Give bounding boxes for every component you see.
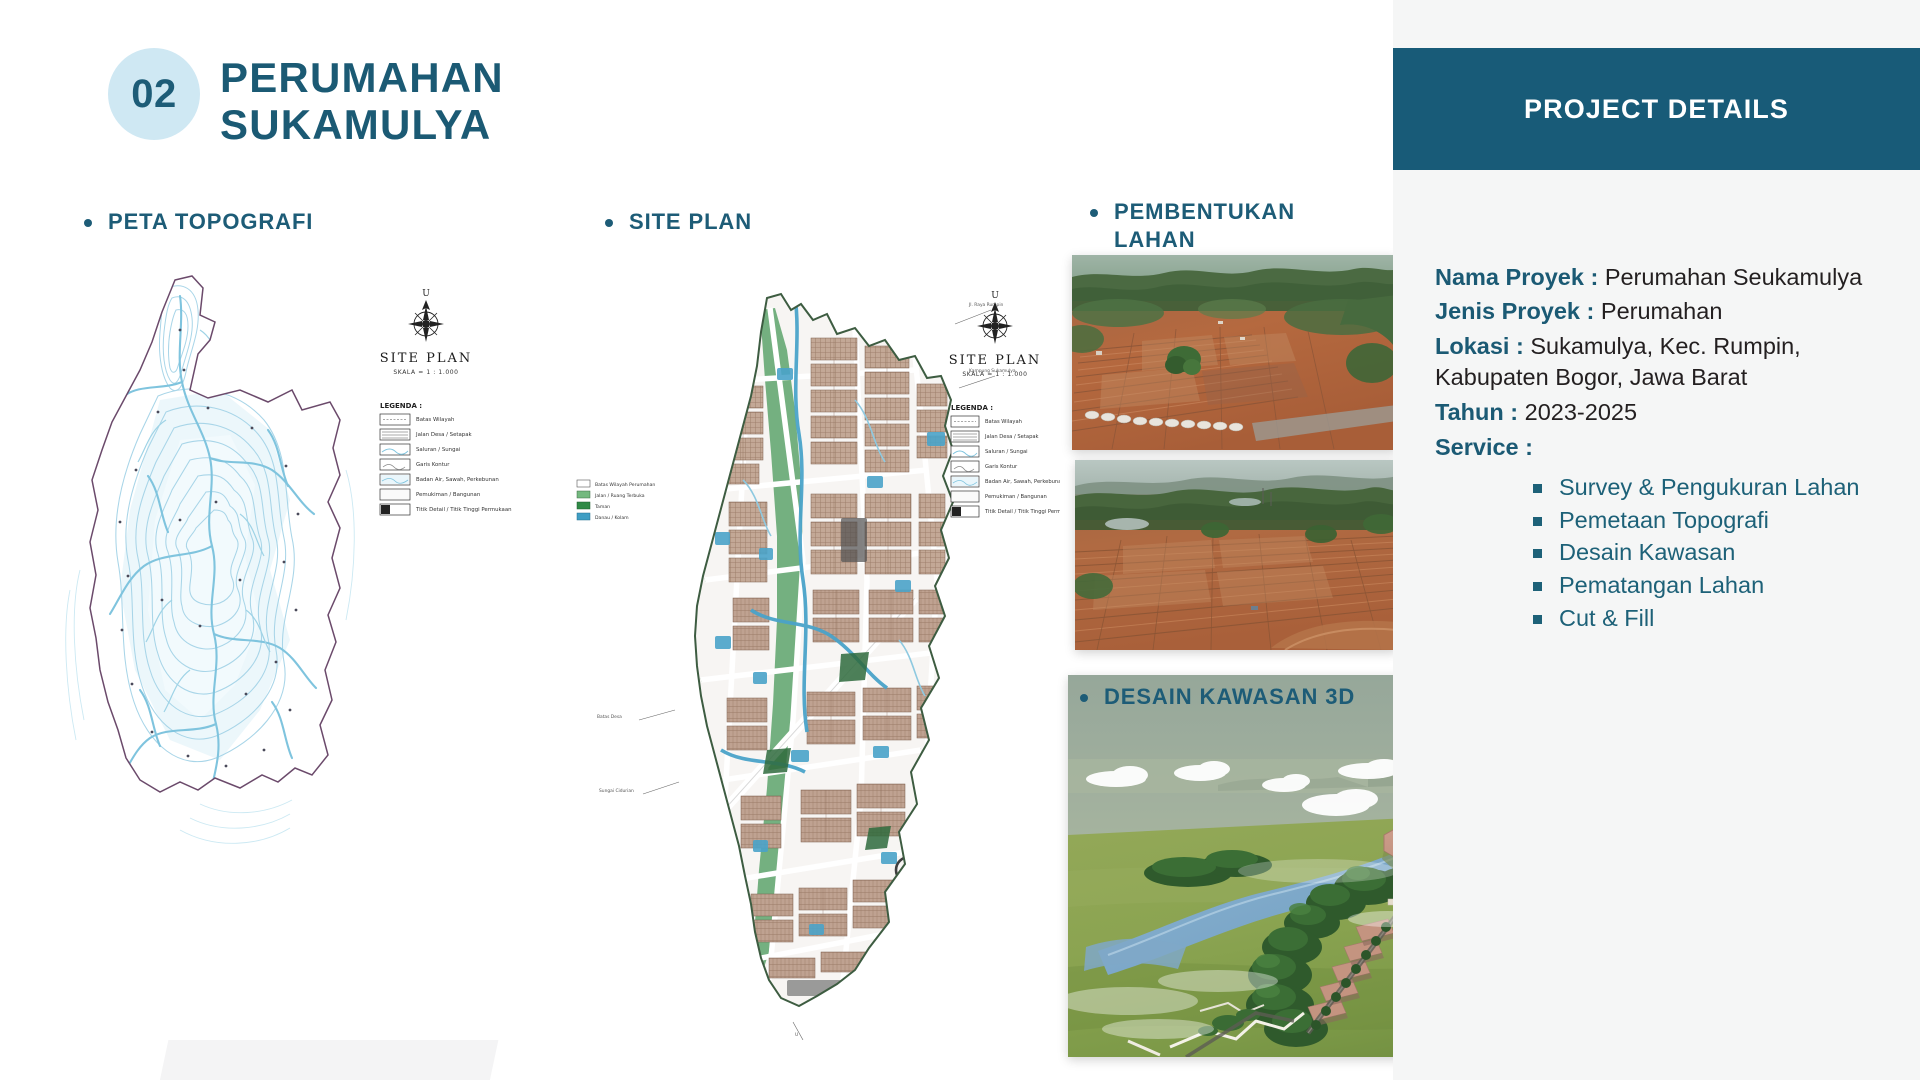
svg-text:Taman: Taman: [594, 504, 610, 510]
section-heading-peta-topografi: PETA TOPOGRAFI: [84, 208, 313, 236]
bullet-dot-icon: [605, 219, 613, 227]
detail-row-nama-proyek: Nama Proyek : Perumahan Seukamulya: [1435, 262, 1902, 293]
slide-number: 02: [131, 72, 177, 117]
page-title-line-1: PERUMAHAN: [220, 54, 504, 101]
slide-canvas: 02 PERUMAHAN SUKAMULYA PETA TOPOGRAFI SI…: [0, 0, 1920, 1080]
page-title-line-2: SUKAMULYA: [220, 101, 504, 148]
slide-header: 02 PERUMAHAN SUKAMULYA: [108, 48, 504, 148]
svg-text:Garis Kontur: Garis Kontur: [416, 462, 450, 468]
svg-text:Jalan Desa / Setapak: Jalan Desa / Setapak: [415, 432, 473, 438]
svg-text:SKALA = 1 : 1.000: SKALA = 1 : 1.000: [962, 371, 1027, 378]
detail-label: Nama Proyek :: [1435, 264, 1598, 290]
section-heading-pembentukan-lahan: PEMBENTUKANLAHAN: [1090, 198, 1320, 253]
detail-value: Perumahan Seukamulya: [1605, 264, 1862, 290]
pembentukan-lahan-photo-1: [1072, 255, 1397, 450]
list-item: Cut & Fill: [1533, 603, 1902, 634]
slide-number-badge: 02: [108, 48, 200, 140]
svg-text:SKALA = 1 : 1.000: SKALA = 1 : 1.000: [393, 369, 458, 376]
svg-text:Batas Wilayah: Batas Wilayah: [985, 419, 1022, 425]
svg-text:Titik Detail / Titik Tinggi Pe: Titik Detail / Titik Tinggi Permukaan: [984, 509, 1060, 515]
page-title: PERUMAHAN SUKAMULYA: [220, 54, 504, 148]
svg-text:U: U: [795, 1032, 798, 1038]
peta-topografi-image: U SITE PLAN SKALA = 1 : 1.000 LEGENDA :: [40, 270, 540, 1040]
detail-value-continuation: Kabupaten Bogor, Jawa Barat: [1435, 362, 1902, 393]
list-item: Survey & Pengukuran Lahan: [1533, 472, 1902, 503]
svg-text:Sungai Cidurian: Sungai Cidurian: [599, 788, 634, 794]
site-plan-image: Batas Wilayah Perumahan Jalan / Ruang Te…: [555, 280, 1060, 1040]
section-label: SITE PLAN: [629, 208, 752, 236]
svg-text:Batas Wilayah Perumahan: Batas Wilayah Perumahan: [595, 482, 655, 488]
section-label: PETA TOPOGRAFI: [108, 208, 313, 236]
list-item: Pemetaan Topografi: [1533, 505, 1902, 536]
svg-text:Badan Air, Sawah, Perkebunan: Badan Air, Sawah, Perkebunan: [985, 479, 1060, 485]
section-heading-desain-kawasan-3d: DESAIN KAWASAN 3D: [1080, 683, 1355, 711]
svg-text:Pemukiman / Bangunan: Pemukiman / Bangunan: [985, 494, 1047, 500]
detail-row-tahun: Tahun : 2023-2025: [1435, 397, 1902, 428]
section-label: PEMBENTUKANLAHAN: [1114, 198, 1295, 253]
svg-text:U: U: [991, 291, 999, 301]
svg-text:SITE PLAN: SITE PLAN: [949, 353, 1041, 368]
pembentukan-lahan-photo-2: [1075, 460, 1397, 650]
service-label: Service :: [1435, 432, 1902, 463]
detail-label: Jenis Proyek :: [1435, 298, 1594, 324]
section-heading-site-plan: SITE PLAN: [605, 208, 752, 236]
list-item: Desain Kawasan: [1533, 537, 1902, 568]
service-list: Survey & Pengukuran Lahan Pemetaan Topog…: [1533, 472, 1902, 634]
section-label: DESAIN KAWASAN 3D: [1104, 683, 1355, 711]
svg-text:Jalan Desa / Setapak: Jalan Desa / Setapak: [984, 434, 1039, 440]
svg-text:Pemukiman / Bangunan: Pemukiman / Bangunan: [416, 492, 480, 498]
project-details-panel: PROJECT DETAILS Nama Proyek : Perumahan …: [1393, 0, 1920, 1080]
svg-text:Jalan / Ruang Terbuka: Jalan / Ruang Terbuka: [594, 493, 645, 499]
svg-text:LEGENDA :: LEGENDA :: [951, 404, 993, 412]
svg-text:LEGENDA :: LEGENDA :: [380, 402, 422, 410]
section-label-line-1: PEMBENTUKAN: [1114, 199, 1295, 224]
svg-text:Badan Air, Sawah, Perkebunan: Badan Air, Sawah, Perkebunan: [416, 477, 499, 483]
detail-row-jenis-proyek: Jenis Proyek : Perumahan: [1435, 296, 1902, 327]
project-details-body: Nama Proyek : Perumahan Seukamulya Jenis…: [1435, 262, 1902, 636]
svg-text:Batas Desa: Batas Desa: [597, 714, 622, 720]
svg-text:U: U: [422, 289, 430, 299]
svg-text:Jl. Raya Rumpin: Jl. Raya Rumpin: [968, 302, 1004, 308]
svg-text:Saluran / Sungai: Saluran / Sungai: [416, 447, 460, 453]
bullet-dot-icon: [84, 219, 92, 227]
detail-label: Lokasi :: [1435, 333, 1524, 359]
detail-value: Perumahan: [1601, 298, 1723, 324]
detail-row-lokasi: Lokasi : Sukamulya, Kec. Rumpin, Kabupat…: [1435, 331, 1902, 394]
list-item: Pematangan Lahan: [1533, 570, 1902, 601]
bullet-dot-icon: [1090, 209, 1098, 217]
svg-text:Garis Kontur: Garis Kontur: [985, 464, 1018, 470]
svg-text:Danau / Kolam: Danau / Kolam: [595, 515, 629, 521]
project-details-title: PROJECT DETAILS: [1524, 94, 1789, 125]
detail-value: Sukamulya, Kec. Rumpin,: [1530, 333, 1800, 359]
detail-label: Tahun :: [1435, 399, 1518, 425]
section-label-line-2: LAHAN: [1114, 227, 1196, 252]
detail-value: 2023-2025: [1525, 399, 1637, 425]
svg-text:Saluran / Sungai: Saluran / Sungai: [985, 449, 1028, 455]
project-details-banner: PROJECT DETAILS: [1393, 48, 1920, 170]
svg-text:SITE PLAN: SITE PLAN: [380, 351, 472, 366]
svg-text:Titik Detail / Titik Tinggi Pe: Titik Detail / Titik Tinggi Permukaan: [415, 507, 512, 513]
svg-text:Batas Wilayah: Batas Wilayah: [416, 417, 454, 423]
bullet-dot-icon: [1080, 694, 1088, 702]
